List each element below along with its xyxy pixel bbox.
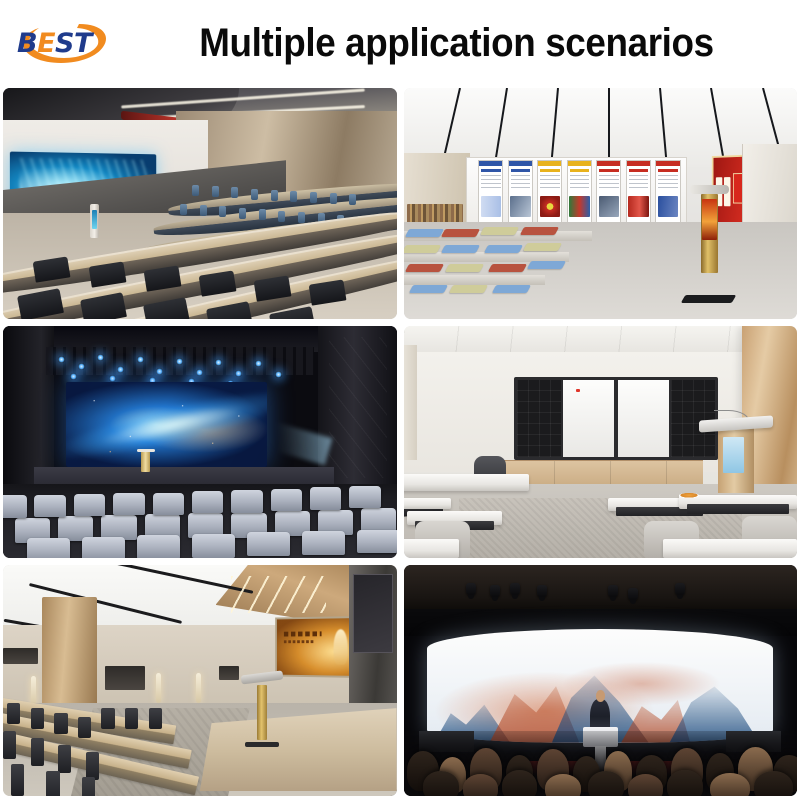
chair [78,717,91,738]
audience-head [628,774,663,796]
chair [7,703,20,724]
logo-letter-s: S [55,28,74,59]
blackboard-left-panel [517,380,561,457]
seat [74,494,105,516]
floor-mat [405,229,445,237]
blackboard-right-panel [671,380,715,457]
scene-conference-room-image [3,565,397,796]
gallery-item-curved-screen-auditorium[interactable] [404,565,798,796]
wall-mounted-display [353,574,393,653]
info-display-panel [626,160,651,227]
info-display-panel [655,160,680,227]
info-display-panel [596,160,621,227]
seat [192,185,199,196]
gallery-item-conference-room[interactable] [3,565,397,796]
audience-head [710,773,749,796]
best-logo-text: BEST [17,30,92,57]
stage-spotlight [117,366,124,373]
seat [271,190,278,201]
student-desk [404,498,451,510]
seat [192,491,223,513]
stage-light [675,583,685,596]
student-desk [663,539,797,558]
interactive-whiteboard-panel [561,380,616,457]
stage-light [628,588,638,601]
seat [349,194,356,205]
seat [271,489,302,511]
seat [153,493,184,515]
audience-head [754,771,793,796]
seat [3,495,27,517]
floor-mat [519,227,559,235]
seat [278,211,285,222]
chair [3,731,16,759]
floor-mat [484,245,524,253]
page-title: Multiple application scenarios [151,21,773,66]
chair [31,738,44,766]
audience-head [502,770,537,796]
seat [137,535,180,557]
info-display-panel [478,160,503,227]
podium-base [681,295,737,303]
conference-led-screen [275,616,361,678]
floor-mat [488,264,528,272]
logo-letter-b: B [17,28,37,59]
floor-mat [480,227,520,235]
seat [212,186,219,197]
stage-spotlight [235,370,242,377]
stage-spotlight [109,375,116,382]
wall-sconce [156,673,161,703]
seat [231,490,262,512]
gallery-item-multimedia-classroom[interactable] [404,88,798,319]
screen-subtitle-text [284,640,313,643]
interactive-whiteboard-panel [616,380,671,457]
scenario-gallery-grid [3,88,797,796]
seat [290,191,297,202]
auditorium-audience [404,731,798,796]
chair [31,708,44,729]
seat [357,530,396,554]
seat [27,538,70,557]
seat [192,534,235,558]
ceiling-downlight-row [231,576,325,613]
ceiling-tile-grid [404,326,798,354]
seat [302,531,345,555]
seat [82,537,125,558]
chair [58,745,71,773]
audience-head [588,771,623,796]
gallery-item-theater-stage[interactable] [3,326,397,557]
conference-podium [257,685,266,741]
seat [231,187,238,198]
stage-led-screen [66,382,267,468]
floor-mat [404,245,441,253]
chair [101,708,114,729]
floor-mat [409,285,449,293]
scene-lecture-hall-image [3,88,397,319]
stage-spotlight [176,358,183,365]
info-display-panel [537,160,562,227]
chair [149,708,162,729]
floor-mat [445,264,485,272]
stage-spotlight [196,369,203,376]
seat [251,189,258,200]
student-desk-slab [687,504,789,513]
seat [219,206,226,217]
floor-mat [527,261,567,269]
chair [11,764,24,796]
auditorium-upper-wall [404,565,798,611]
left-wall-edge [404,345,418,461]
page-root: BEST Multiple application scenarios [0,0,800,800]
chair [54,713,67,734]
stage-spotlight [255,360,262,367]
floor-mat [523,243,563,251]
scene-curved-screen-auditorium-image [404,565,798,796]
wall-dark-panel [105,666,144,689]
seat [34,495,65,517]
floor-mat [441,245,481,253]
info-display-panel [508,160,533,227]
info-display-panel [567,160,592,227]
audience-head [545,774,580,796]
teacher-lectern [718,428,753,493]
seat [113,493,144,515]
wall-dark-panel [219,666,239,680]
gallery-item-smart-classroom[interactable] [404,326,798,557]
seat [259,209,266,220]
wall-sconce [196,673,201,703]
wall-sconce [31,676,36,706]
classroom-blackboard-whiteboard [514,377,719,460]
chair [82,777,95,796]
chair [86,752,99,780]
scene-theater-stage-image [3,326,397,557]
chair [125,708,138,729]
page-header: BEST Multiple application scenarios [0,0,800,86]
seat [310,192,317,203]
best-logo[interactable]: BEST [6,13,124,73]
student-desk [404,539,459,558]
stage-spotlight [275,371,282,378]
audience-head [463,774,498,796]
seat [298,212,305,223]
floor-mat [441,229,481,237]
stage-podium-top [137,449,155,452]
seat [239,208,246,219]
wall-dark-panel [3,648,38,664]
seat [330,193,337,204]
teacher-desk [404,474,530,490]
stage-spotlight [70,373,77,380]
stage-light [510,583,520,596]
tiered-step [404,275,546,284]
classroom-podium [701,194,719,273]
lecture-hall-podium [90,204,99,239]
floor-mat [405,264,445,272]
theater-seating [3,484,397,558]
screen-figure-graphic [334,628,348,664]
logo-letter-t: T [74,28,92,59]
screen-headline-text [284,631,321,636]
audience-head [423,771,458,796]
seat [200,205,207,216]
ceiling-light-line [608,88,610,167]
scene-smart-classroom-image [404,326,798,557]
floor-mat [492,285,532,293]
audience-head [667,770,702,796]
floor-mat [449,285,489,293]
chair [46,771,59,796]
seat [349,486,380,508]
scene-multimedia-classroom-image [404,88,798,319]
seat [180,204,187,215]
logo-letter-e: E [37,28,55,59]
seat [247,532,290,556]
gallery-item-lecture-hall[interactable] [3,88,397,319]
stage-podium [141,451,150,472]
seat [310,487,341,509]
